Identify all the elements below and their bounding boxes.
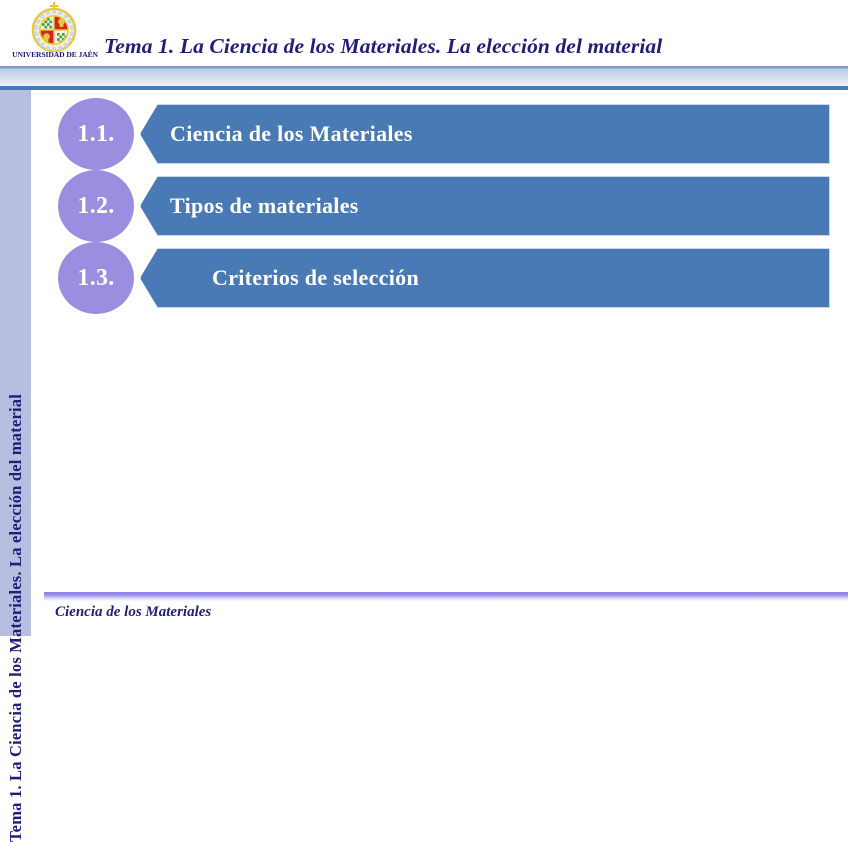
university-logo: UNIVERSIDAD DE JAÉN (12, 2, 98, 64)
page-title: Tema 1. La Ciencia de los Materiales. La… (104, 34, 662, 59)
slide-header: UNIVERSIDAD DE JAÉN Tema 1. La Ciencia d… (0, 0, 848, 66)
agenda-label-3: Criterios de selección (170, 248, 832, 308)
university-logo-caption: UNIVERSIDAD DE JAÉN (12, 50, 98, 59)
sidebar-title: Tema 1. La Ciencia de los Materiales. La… (7, 394, 27, 842)
footer-label: Ciencia de los Materiales (55, 604, 211, 621)
slide: UNIVERSIDAD DE JAÉN Tema 1. La Ciencia d… (0, 0, 848, 636)
agenda-number-bubble-2: 1.2. (58, 170, 134, 242)
agenda-label-2: Tipos de materiales (170, 176, 790, 236)
footer-divider (44, 592, 848, 601)
agenda-item-2[interactable]: Tipos de materiales 1.2. (40, 170, 830, 242)
vertical-sidebar: Tema 1. La Ciencia de los Materiales. La… (0, 90, 33, 636)
agenda-label-1: Ciencia de los Materiales (170, 104, 790, 164)
sidebar-label-wrap: Tema 1. La Ciencia de los Materiales. La… (0, 108, 33, 628)
agenda-number-bubble-1: 1.1. (58, 98, 134, 170)
slide-content: Ciencia de los Materiales 1.1. Tipos de … (40, 90, 848, 585)
agenda-item-1[interactable]: Ciencia de los Materiales 1.1. (40, 98, 830, 170)
agenda-number-bubble-3: 1.3. (58, 242, 134, 314)
agenda-item-3[interactable]: Criterios de selección 1.3. (40, 242, 830, 314)
university-seal-icon (26, 2, 82, 52)
